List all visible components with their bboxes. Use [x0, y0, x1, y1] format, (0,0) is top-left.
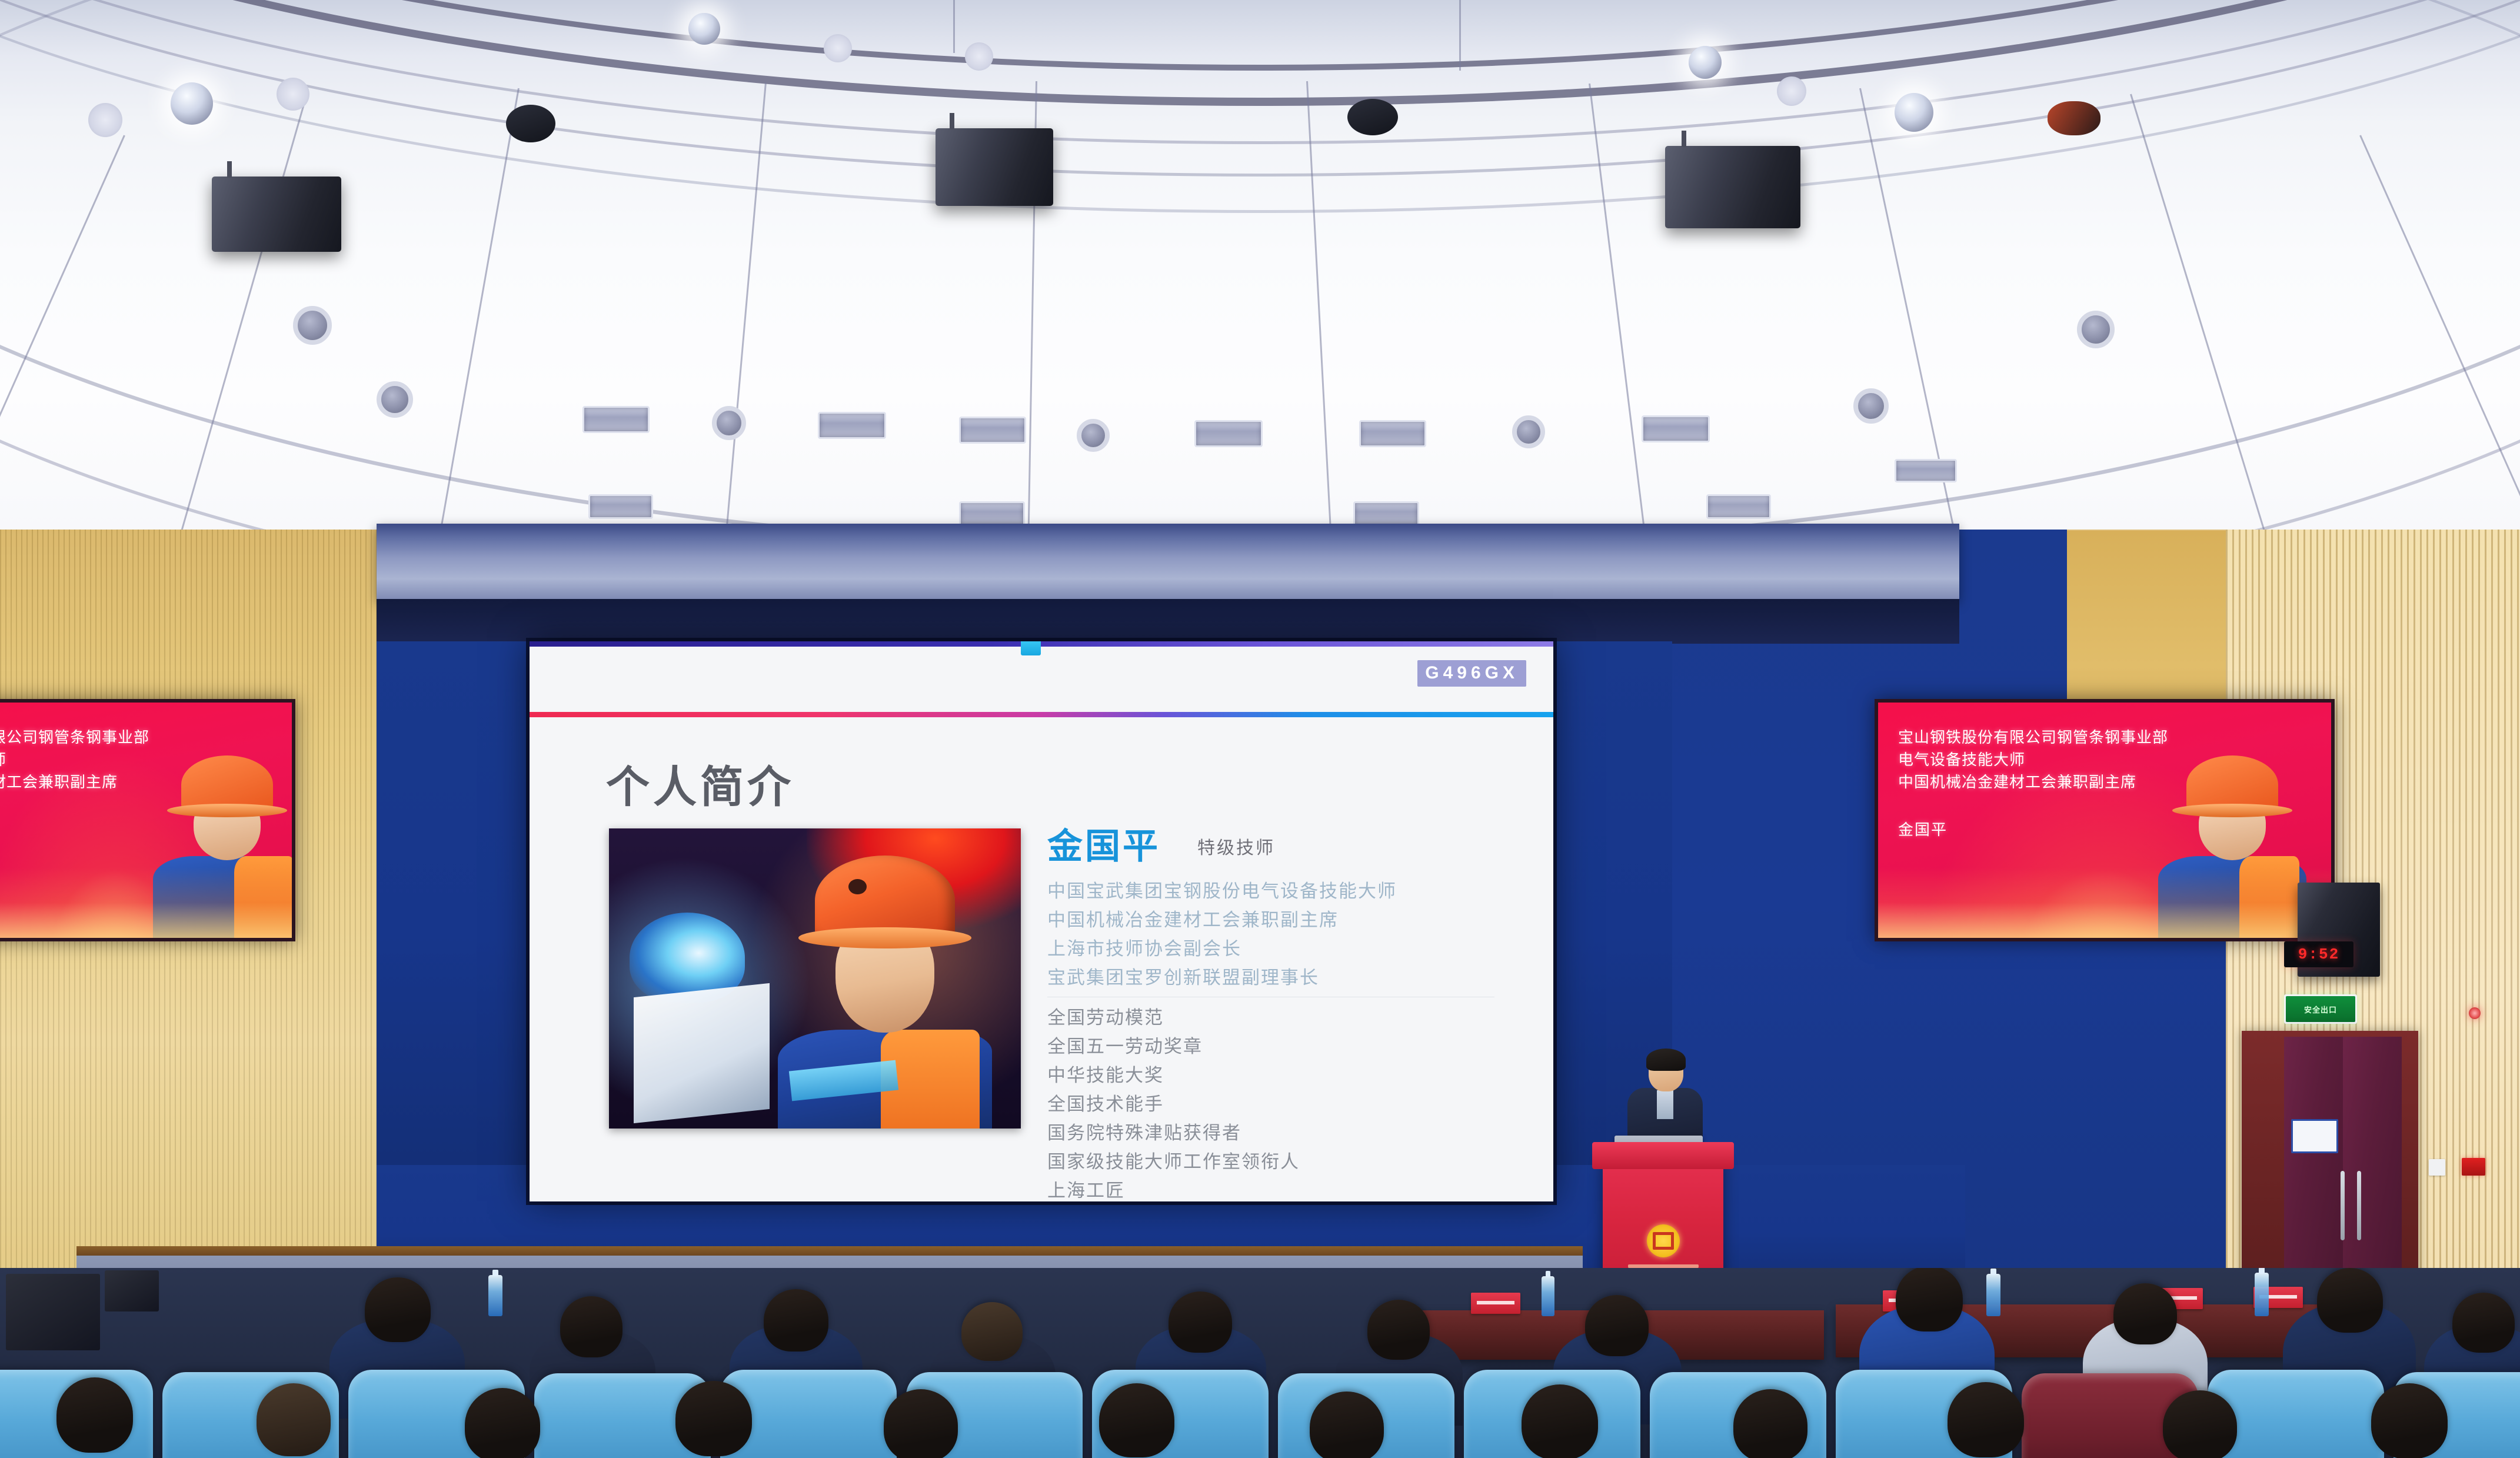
speaker-shirt: [1657, 1090, 1673, 1119]
ceiling-can-light-icon: [1077, 419, 1110, 452]
ceiling-vent: [1642, 415, 1710, 442]
slide-title: 个人简介: [606, 752, 794, 815]
credential-line: 宝武集团宝罗创新联盟副理事长: [1047, 963, 1512, 992]
exit-sign-label: 安全出口: [2286, 996, 2355, 1022]
attendee-head: [1169, 1291, 1232, 1353]
slide-accent-rule: [530, 712, 1553, 717]
attendee-head: [2317, 1268, 2383, 1333]
attendee-head: [2452, 1293, 2515, 1353]
slide-portrait-photo: [609, 828, 1021, 1129]
credential-line: 中华技能大奖: [1047, 1061, 1512, 1090]
attendee-head: [1733, 1389, 1807, 1458]
proscenium-left: [377, 641, 537, 1230]
credential-line: 全国技术能手: [1047, 1090, 1512, 1119]
attendee-head: [365, 1277, 431, 1342]
led-right-lines: 宝山钢铁股份有限公司钢管条钢事业部 电气设备技能大师 中国机械冶金建材工会兼职副…: [1898, 726, 2168, 793]
ceiling-can-light-icon: [1853, 388, 1889, 424]
attendee-head: [560, 1296, 622, 1357]
credentials-divider: [1047, 997, 1494, 997]
door-handle-icon[interactable]: [2341, 1171, 2345, 1240]
fire-alarm-station[interactable]: [2462, 1158, 2485, 1176]
ceiling: [0, 0, 2520, 565]
slide-person-name: 金国平: [1047, 818, 1160, 869]
ceiling-vent: [1353, 501, 1419, 526]
spotlight-icon: [171, 82, 213, 125]
slide-top-bar: [530, 641, 1553, 647]
attendee-head: [884, 1389, 958, 1458]
ceiling-vent: [588, 494, 653, 519]
ceiling-light-icon: [965, 42, 993, 71]
led-left-line: 能大师: [0, 748, 149, 771]
speaker-hair: [1646, 1048, 1686, 1071]
attendee-head: [1367, 1300, 1430, 1360]
water-bottle: [2255, 1273, 2269, 1316]
credential-line: 国家级技能大师工作室领衔人: [1047, 1147, 1512, 1176]
portrait-hardhat-brim: [167, 804, 287, 817]
ceiling-vent: [582, 406, 650, 433]
attendee-head: [764, 1289, 828, 1352]
moving-head-light-icon: [1347, 99, 1398, 135]
water-bottle: [488, 1275, 502, 1316]
attendee-head: [465, 1388, 540, 1458]
floor-monitor-speaker: [6, 1274, 100, 1350]
ceiling-can-light-icon: [1512, 415, 1545, 448]
slide-person-role: 特级技师: [1197, 833, 1275, 859]
slide-top-tab-icon: [1021, 641, 1041, 655]
door-handle-icon[interactable]: [2357, 1171, 2361, 1240]
credential-line: 中国机械冶金建材工会兼职副主席: [1047, 906, 1512, 934]
led-left-glow: [0, 867, 292, 938]
led-right-name: 金国平: [1898, 818, 1948, 840]
led-right-line: 宝山钢铁股份有限公司钢管条钢事业部: [1898, 726, 2168, 748]
stage-header-beam: [377, 524, 1959, 600]
attendee-head: [257, 1383, 331, 1456]
ceiling-vent: [1359, 420, 1426, 447]
attendee-head: [2163, 1390, 2237, 1458]
moving-head-light-icon: [506, 105, 555, 142]
ceiling-vent: [1895, 459, 1957, 482]
attendee-head: [2371, 1383, 2448, 1458]
led-right-line: 中国机械冶金建材工会兼职副主席: [1898, 771, 2168, 793]
ceiling-vent: [959, 501, 1025, 526]
credential-line: 全国劳动模范: [1047, 1003, 1512, 1032]
attendee-head: [1585, 1295, 1649, 1356]
hanging-speaker: [212, 177, 341, 252]
slide-code-badge: G496GX: [1417, 660, 1526, 687]
spotlight-icon: [1895, 93, 1933, 132]
name-card: [1471, 1293, 1520, 1314]
ceiling-wire: [1459, 0, 1461, 71]
attendee-head: [675, 1381, 752, 1456]
ceiling-arc: [0, 0, 2520, 565]
attendee-head: [56, 1377, 133, 1453]
side-led-screen-right: 宝山钢铁股份有限公司钢管条钢事业部 电气设备技能大师 中国机械冶金建材工会兼职副…: [1875, 699, 2335, 941]
ceiling-vent: [1706, 494, 1771, 519]
audience-area: [0, 1268, 2520, 1458]
led-right-glow: [1878, 867, 2331, 938]
floor-monitor-speaker: [105, 1270, 159, 1311]
led-left-lines: 份有限公司钢管条钢事业部 能大师 金建材工会兼职副主席: [0, 726, 149, 793]
ceiling-can-light-icon: [712, 406, 746, 440]
ceiling-light-icon: [824, 34, 852, 62]
attendee-head: [1099, 1383, 1174, 1457]
ceiling-wire: [953, 0, 955, 53]
attendee-head: [1896, 1268, 1963, 1331]
led-right-line: 电气设备技能大师: [1898, 748, 2168, 771]
credential-line: 国务院特殊津贴获得者: [1047, 1119, 1512, 1147]
indicator-light-icon: [2469, 1007, 2481, 1019]
portrait-hardhat-brim: [2172, 804, 2292, 817]
ceiling-can-light-icon: [293, 306, 332, 345]
attendee-head: [1948, 1382, 2024, 1457]
hanging-speaker: [936, 128, 1053, 206]
hanging-speaker: [1665, 146, 1800, 228]
photo-document: [634, 983, 770, 1123]
ceiling-light-icon: [277, 78, 309, 111]
led-clock: 9:52: [2284, 941, 2353, 967]
ceiling-light-icon: [1777, 76, 1806, 106]
led-left-line: 份有限公司钢管条钢事业部: [0, 726, 149, 748]
spotlight-icon: [1689, 46, 1722, 79]
credential-line: 上海市技师协会副会长: [1047, 934, 1512, 963]
attendee-head: [1522, 1384, 1598, 1458]
moving-head-light-icon: [2048, 101, 2100, 135]
slide-credentials-list: 中国宝武集团宝钢股份电气设备技能大师 中国机械冶金建材工会兼职副主席 上海市技师…: [1047, 877, 1512, 1201]
ceiling-can-light-icon: [377, 381, 413, 418]
door-notice-sign: [2291, 1119, 2338, 1153]
credential-line: 全国五一劳动奖章: [1047, 1032, 1512, 1061]
ceiling-vent: [818, 412, 886, 439]
stage-edge-trim: [76, 1246, 1583, 1256]
auditorium-scene: G496GX 个人简介 金国平 特级技师 中国宝武集团宝钢股份电气设备技能大师 …: [0, 0, 2520, 1458]
credential-line: 中国宝武集团宝钢股份电气设备技能大师: [1047, 877, 1512, 906]
exit-sign: 安全出口: [2284, 994, 2357, 1024]
attendee-head: [1310, 1392, 1384, 1458]
attendee-head: [961, 1302, 1023, 1361]
light-switch[interactable]: [2429, 1159, 2445, 1176]
podium-top-surface: [1592, 1142, 1734, 1169]
ceiling-light-icon: [88, 103, 122, 137]
side-led-screen-left: 份有限公司钢管条钢事业部 能大师 金建材工会兼职副主席: [0, 699, 295, 941]
projection-screen[interactable]: G496GX 个人简介 金国平 特级技师 中国宝武集团宝钢股份电气设备技能大师 …: [530, 641, 1553, 1201]
ceiling-vent: [1194, 420, 1263, 447]
union-emblem-icon: [1647, 1224, 1680, 1257]
photo-hardhat-brim: [798, 927, 971, 948]
attendee-head: [2113, 1283, 2177, 1344]
spotlight-icon: [688, 13, 720, 45]
ceiling-vent: [959, 417, 1026, 444]
water-bottle: [1542, 1276, 1554, 1316]
stage-header-shadow: [377, 599, 1959, 644]
credential-line: 上海工匠: [1047, 1176, 1512, 1201]
water-bottle: [1986, 1274, 2000, 1316]
led-left-line: 金建材工会兼职副主席: [0, 771, 149, 793]
ceiling-can-light-icon: [2077, 311, 2115, 348]
